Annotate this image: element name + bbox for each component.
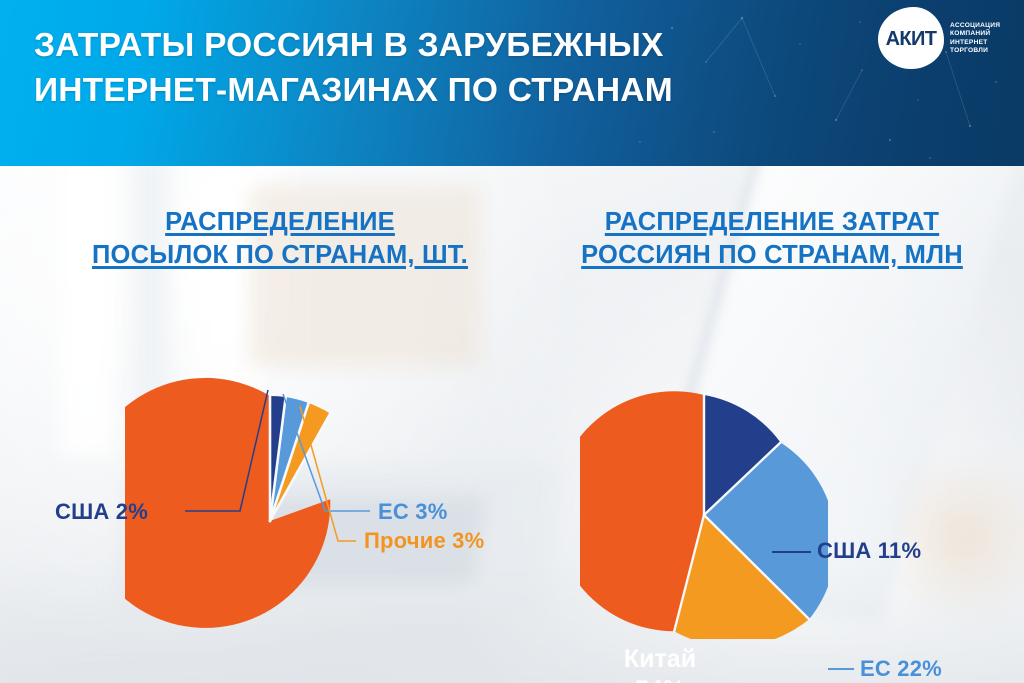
chart-spend-leader-lines xyxy=(520,166,1024,683)
poster-title-line1: ЗАТРАТЫ РОССИЯН В ЗАРУБЕЖНЫХ xyxy=(34,27,664,64)
pie-label-china-spend-name: Китай xyxy=(590,644,730,675)
callout-usa-spend: США 11% xyxy=(817,538,921,564)
pie-label-china-spend-value: 54% xyxy=(590,675,730,683)
chart-parcels: РАСПРЕДЕЛЕНИЕ ПОСЫЛОК ПО СТРАНАМ, ШТ. xyxy=(0,166,560,683)
logo-subtitle-line2: КОМПАНИЙ xyxy=(950,30,1000,38)
logo-subtitle-line3: ИНТЕРНЕТ xyxy=(950,39,1000,47)
callout-other-parcels: Прочие 3% xyxy=(364,528,484,554)
logo-subtitle: АССОЦИАЦИЯ КОМПАНИЙ ИНТЕРНЕТ ТОРГОВЛИ xyxy=(950,22,1000,56)
poster-title: ЗАТРАТЫ РОССИЯН В ЗАРУБЕЖНЫХ ИНТЕРНЕТ-МА… xyxy=(34,23,864,113)
akit-logo[interactable]: АКИТ АССОЦИАЦИЯ КОМПАНИЙ ИНТЕРНЕТ ТОРГОВ… xyxy=(878,7,1010,73)
callout-eu-parcels: ЕС 3% xyxy=(378,499,447,525)
logo-subtitle-line4: ТОРГОВЛИ xyxy=(950,47,1000,55)
chart-parcels-leader-lines xyxy=(0,166,560,683)
logo-mark-text: АКИТ xyxy=(878,7,944,69)
chart-spend: РАСПРЕДЕЛЕНИЕ ЗАТРАТ РОССИЯН ПО СТРАНАМ,… xyxy=(520,166,1024,683)
header-band: ЗАТРАТЫ РОССИЯН В ЗАРУБЕЖНЫХ ИНТЕРНЕТ-МА… xyxy=(0,0,1024,166)
infographic-poster: ЗАТРАТЫ РОССИЯН В ЗАРУБЕЖНЫХ ИНТЕРНЕТ-МА… xyxy=(0,0,1024,683)
poster-title-line2: ИНТЕРНЕТ-МАГАЗИНАХ ПО СТРАНАМ xyxy=(34,68,864,113)
callout-eu-spend: ЕС 22% xyxy=(860,656,942,682)
callout-usa-parcels: США 2% xyxy=(55,499,148,525)
charts-area: РАСПРЕДЕЛЕНИЕ ПОСЫЛОК ПО СТРАНАМ, ШТ. xyxy=(0,166,1024,683)
pie-label-china-spend: Китай 54% xyxy=(590,644,730,683)
